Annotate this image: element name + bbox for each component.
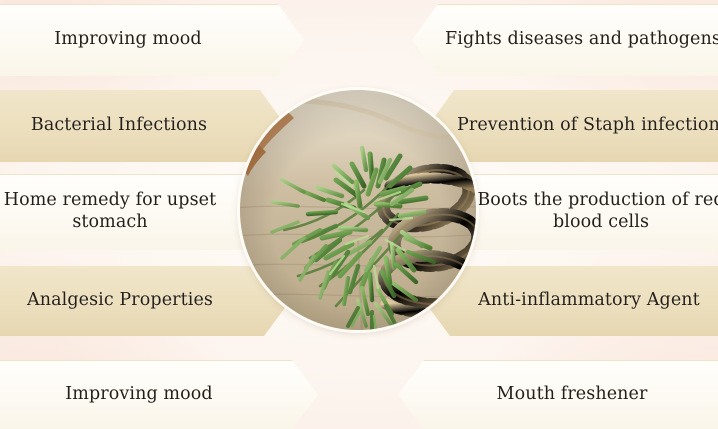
benefit-label: Anti-inflammatory Agent — [458, 290, 712, 312]
benefit-row: Improving mood Mouth freshener — [0, 360, 718, 429]
benefit-banner-left: Improving mood — [0, 360, 318, 429]
benefit-label: Mouth freshener — [483, 384, 660, 406]
benefit-label: Fights diseases and pathogens — [423, 29, 718, 51]
benefit-label: Boots the production of red blood cells — [442, 190, 718, 234]
infographic-canvas: Improving mood Fights diseases and patho… — [0, 0, 718, 429]
benefit-banner-left: Home remedy for upset stomach — [0, 174, 270, 250]
benefit-banner-left: Analgesic Properties — [0, 266, 290, 336]
benefit-banner-right: Mouth freshener — [398, 360, 718, 429]
benefit-label: Improving mood — [42, 29, 235, 51]
benefit-label: Analgesic Properties — [15, 290, 249, 312]
benefit-label: Home remedy for upset stomach — [0, 190, 270, 234]
rosemary-illustration — [240, 90, 476, 330]
benefit-banner-left: Bacterial Infections — [0, 90, 286, 162]
benefit-banner-right: Anti-inflammatory Agent — [424, 266, 718, 336]
benefit-label: Prevention of Staph infections — [433, 115, 718, 137]
benefit-label: Improving mood — [53, 384, 238, 406]
rosemary-photo — [240, 90, 476, 330]
benefit-banner-right: Prevention of Staph infections — [428, 90, 718, 162]
benefit-banner-right: Boots the production of red blood cells — [442, 174, 718, 250]
benefit-banner-right: Fights diseases and pathogens — [412, 4, 718, 76]
benefit-banner-left: Improving mood — [0, 4, 304, 76]
benefit-label: Bacterial Infections — [19, 115, 241, 137]
benefit-row: Improving mood Fights diseases and patho… — [0, 4, 718, 76]
